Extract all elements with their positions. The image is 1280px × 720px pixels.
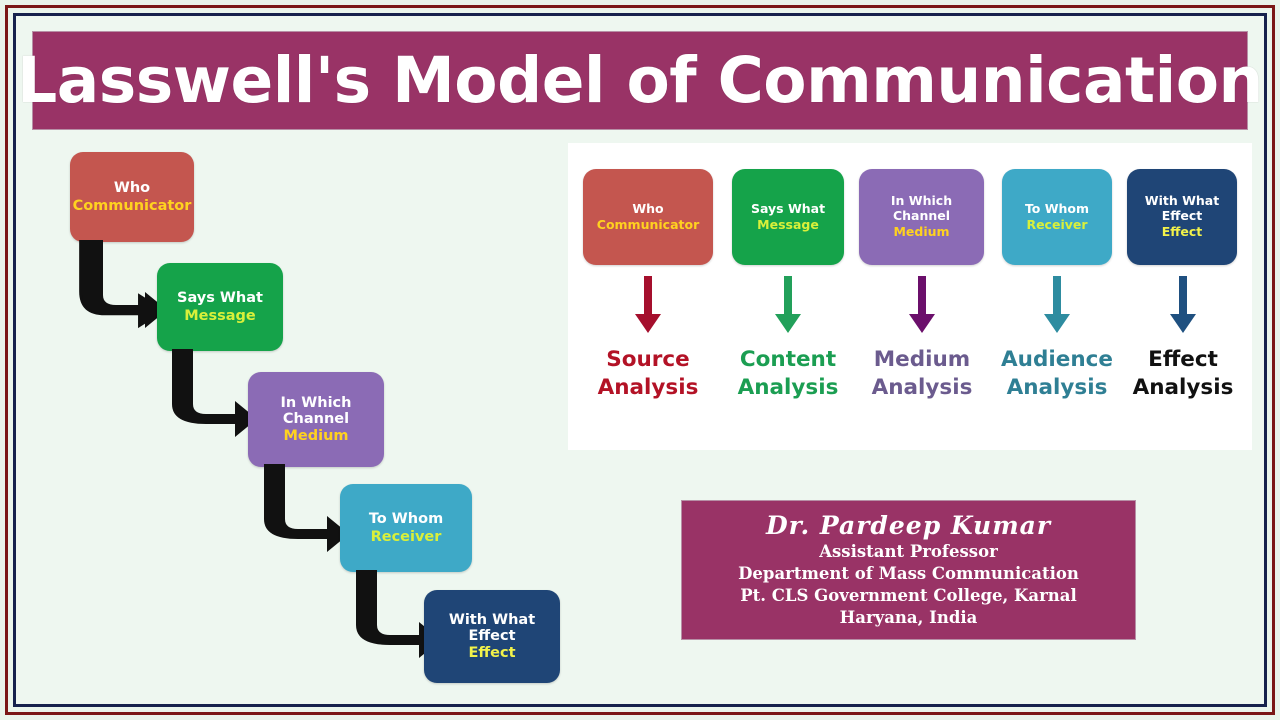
credits-author-name: Dr. Pardeep Kumar [682,510,1135,541]
staircase-box-who[interactable]: Who Communicator [70,152,194,242]
connector-arrow-1 [73,240,168,332]
staircase-box-says-what[interactable]: Says What Message [157,263,283,351]
credits-line-college: Pt. CLS Government College, Karnal [682,585,1135,607]
analysis-box-with-what-effect[interactable]: With What Effect Effect [1127,169,1237,265]
connector-arrow-2 [163,349,258,441]
analysis-panel: Who Communicator Source Analysis Says Wh… [568,143,1252,450]
analysis-box-to-whom-question: To Whom [1025,202,1089,217]
connector-arrow-3 [255,464,350,556]
staircase-box-who-question: Who [114,180,150,196]
analysis-box-with-what-effect-question: With What Effect [1145,194,1219,224]
staircase-box-to-whom[interactable]: To Whom Receiver [340,484,472,572]
page-title: Lasswell's Model of Communication [17,49,1263,112]
staircase-box-who-answer: Communicator [73,198,192,214]
staircase-box-with-what-effect-question: With What Effect [449,612,535,644]
analysis-label-audience: Audience Analysis [987,346,1127,403]
analysis-box-who[interactable]: Who Communicator [583,169,713,265]
credits-line-region: Haryana, India [682,607,1135,629]
analysis-arrow-source [634,276,662,334]
analysis-arrow-medium [908,276,936,334]
analysis-box-says-what-question: Says What [751,202,825,217]
analysis-box-says-what-answer: Message [757,218,819,233]
analysis-label-source: Source Analysis [578,346,718,403]
staircase-box-to-whom-answer: Receiver [371,529,442,545]
staircase-box-says-what-question: Says What [177,290,263,306]
staircase-box-to-whom-question: To Whom [369,511,443,527]
staircase-box-in-which-channel[interactable]: In Which Channel Medium [248,372,384,467]
credits-box: Dr. Pardeep Kumar Assistant Professor De… [681,500,1136,640]
analysis-arrow-effect [1169,276,1197,334]
credits-line-department: Department of Mass Communication [682,563,1135,585]
slide-canvas: Lasswell's Model of Communication Who Co… [0,0,1280,720]
analysis-box-in-which-channel-question: In Which Channel [891,194,952,224]
analysis-box-says-what[interactable]: Says What Message [732,169,844,265]
staircase-box-in-which-channel-answer: Medium [283,428,348,444]
analysis-box-in-which-channel-answer: Medium [893,225,949,240]
analysis-box-with-what-effect-answer: Effect [1162,225,1203,240]
analysis-label-effect: Effect Analysis [1113,346,1253,403]
title-bar: Lasswell's Model of Communication [32,31,1248,130]
staircase-box-with-what-effect-answer: Effect [468,645,515,661]
staircase-box-says-what-answer: Message [184,308,256,324]
credits-line-title: Assistant Professor [682,541,1135,563]
analysis-box-to-whom-answer: Receiver [1026,218,1087,233]
analysis-box-who-question: Who [632,202,663,217]
analysis-label-medium: Medium Analysis [852,346,992,403]
analysis-box-who-answer: Communicator [597,218,699,233]
staircase-box-in-which-channel-question: In Which Channel [281,395,352,427]
analysis-box-in-which-channel[interactable]: In Which Channel Medium [859,169,984,265]
analysis-arrow-content [774,276,802,334]
analysis-label-content: Content Analysis [718,346,858,403]
staircase-box-with-what-effect[interactable]: With What Effect Effect [424,590,560,683]
analysis-box-to-whom[interactable]: To Whom Receiver [1002,169,1112,265]
analysis-arrow-audience [1043,276,1071,334]
